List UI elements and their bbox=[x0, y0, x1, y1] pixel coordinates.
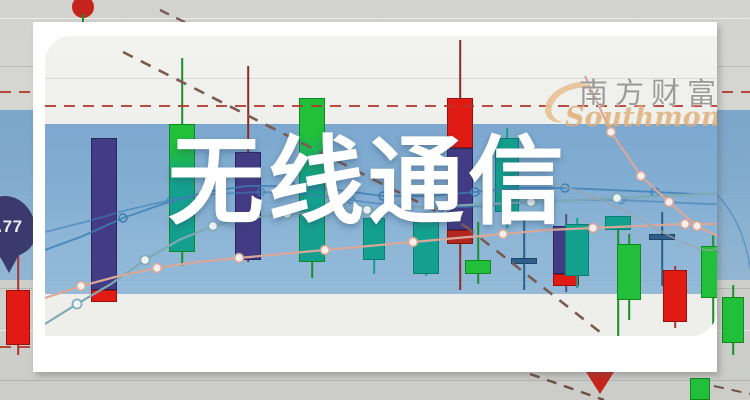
bg-candle bbox=[690, 378, 710, 400]
price-pin-tail bbox=[0, 249, 22, 273]
bg-gridline bbox=[0, 18, 750, 19]
bg-blue-band-right bbox=[717, 110, 750, 280]
bg-gridline bbox=[0, 380, 750, 381]
candle bbox=[617, 234, 641, 320]
bg-candle bbox=[722, 285, 744, 355]
candle bbox=[565, 218, 589, 288]
watermark-cn: 南方财富网 bbox=[579, 70, 717, 112]
stock-banner-image: 3.77 bbox=[0, 0, 750, 400]
page-title: 无线通信 bbox=[168, 134, 568, 230]
plot-gridline bbox=[45, 78, 717, 79]
candle bbox=[663, 266, 687, 328]
candle bbox=[91, 138, 117, 302]
candle bbox=[701, 234, 717, 330]
price-pin-label: 3.77 bbox=[0, 217, 23, 237]
bottom-triangle-marker bbox=[586, 372, 614, 394]
